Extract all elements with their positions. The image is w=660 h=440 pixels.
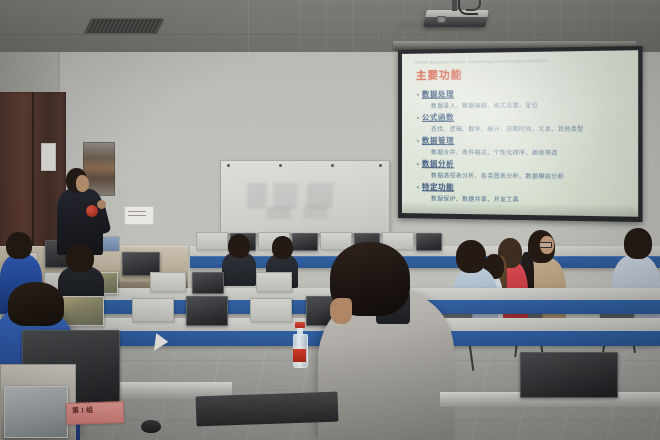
student-4-head bbox=[272, 236, 293, 259]
projector-lens-icon bbox=[437, 16, 446, 23]
whiteboard-clip-icon bbox=[379, 164, 382, 167]
eyeglasses-icon bbox=[539, 242, 552, 248]
presenter-logo-icon bbox=[86, 205, 98, 217]
bullet-dot-icon bbox=[417, 94, 419, 96]
ceiling-projector bbox=[423, 10, 489, 27]
whiteboard-clip-icon bbox=[279, 164, 282, 167]
slide-block-detail: 数据录入、数据编辑、格式设置、定位 bbox=[431, 99, 628, 109]
desk-divider bbox=[150, 272, 186, 292]
presenter-face bbox=[76, 175, 89, 192]
monitor bbox=[416, 233, 442, 251]
slide-block-detail: 数据合并、条件格式、个性化排序、高级筛选 bbox=[431, 147, 628, 157]
whiteboard-erased-marks bbox=[267, 207, 327, 219]
placard-text-line bbox=[128, 211, 146, 212]
bullet-dot-icon bbox=[417, 140, 419, 142]
bullet-dot-icon bbox=[417, 186, 419, 188]
slide-page-number: 5 bbox=[631, 209, 633, 213]
slide-block: 数据分析 数据透视表分析、各类图表分析、数据模拟分析 bbox=[415, 158, 628, 180]
slide-block-detail: 查找、逻辑、数学、统计、日期时间、文本、其他类型 bbox=[431, 123, 628, 132]
slide-block-heading: 数据管理 bbox=[422, 135, 454, 146]
projector-bracket bbox=[452, 0, 457, 11]
slide-block-head: 数据处理 bbox=[417, 87, 628, 100]
ceiling-air-vent bbox=[85, 19, 164, 33]
whiteboard-erased-marks bbox=[247, 183, 357, 209]
classroom-photo: OFFICE Application Training · Data Manag… bbox=[0, 0, 660, 440]
slide-block: 数据管理 数据合并、条件格式、个性化排序、高级筛选 bbox=[415, 135, 628, 156]
desk-divider bbox=[196, 232, 228, 250]
whiteboard-clip-icon bbox=[227, 164, 230, 167]
bottle-cap bbox=[295, 322, 305, 328]
bullet-dot-icon bbox=[417, 117, 419, 119]
slide-block-heading: 数据分析 bbox=[422, 158, 454, 169]
slide-block: 数据处理 数据录入、数据编辑、格式设置、定位 bbox=[415, 87, 628, 109]
monitor-rear bbox=[520, 352, 618, 398]
monitor bbox=[292, 233, 318, 251]
presenter-hand bbox=[97, 200, 106, 209]
computer-mouse bbox=[141, 420, 161, 433]
slide-block-heading: 数据处理 bbox=[422, 88, 454, 99]
desk-name-card-text: 第 1 组 bbox=[72, 404, 120, 416]
desk-divider bbox=[250, 298, 292, 322]
slide-block-heading: 公式函数 bbox=[422, 112, 454, 123]
slide-block-detail: 数据保护、数据共享、开发工具 bbox=[431, 193, 628, 205]
whiteboard bbox=[220, 160, 390, 234]
slide-bullet-list: 数据处理 数据录入、数据编辑、格式设置、定位 公式函数 查找、逻辑、数学、统计、… bbox=[415, 87, 628, 205]
student-2-head bbox=[66, 244, 94, 272]
slide-header-text: OFFICE Application Training · Data Manag… bbox=[415, 58, 628, 65]
desk-divider bbox=[256, 272, 292, 292]
presentation-slide: OFFICE Application Training · Data Manag… bbox=[402, 50, 638, 217]
monitor bbox=[62, 296, 104, 326]
vent-louvers bbox=[86, 20, 162, 32]
screen-surface: OFFICE Application Training · Data Manag… bbox=[402, 50, 638, 217]
whiteboard-clip-icon bbox=[331, 164, 334, 167]
slide-block: 特定功能 数据保护、数据共享、开发工具 bbox=[415, 181, 628, 204]
slide-block-head: 数据管理 bbox=[417, 135, 628, 147]
student-6-head bbox=[456, 240, 486, 273]
slide-block: 公式函数 查找、逻辑、数学、统计、日期时间、文本、其他类型 bbox=[415, 111, 628, 132]
bottle-neck bbox=[297, 327, 303, 335]
monitor bbox=[186, 296, 228, 326]
monitor bbox=[192, 272, 224, 294]
desk-divider bbox=[132, 298, 174, 322]
slide-block-head: 公式函数 bbox=[417, 111, 628, 123]
keyboard bbox=[196, 392, 339, 427]
student-10-head bbox=[228, 234, 250, 258]
student-3-head bbox=[6, 232, 32, 259]
door-notice-paper bbox=[41, 143, 56, 171]
slide-title: 主要功能 bbox=[416, 65, 628, 83]
projection-screen: OFFICE Application Training · Data Manag… bbox=[398, 46, 643, 222]
student-1-head bbox=[8, 282, 64, 326]
placard-text-line bbox=[128, 215, 146, 216]
folded-paper bbox=[154, 333, 169, 353]
slide-block-detail: 数据透视表分析、各类图表分析、数据模拟分析 bbox=[431, 170, 628, 181]
monitor-screen-front bbox=[4, 386, 68, 438]
slide-block-head: 数据分析 bbox=[417, 158, 628, 171]
slide-block-heading: 特定功能 bbox=[422, 181, 454, 192]
bullet-dot-icon bbox=[417, 163, 419, 165]
student-5-ear bbox=[330, 298, 352, 324]
ceiling-seam bbox=[248, 0, 249, 52]
bottle-label bbox=[293, 349, 306, 362]
student-9-head bbox=[624, 228, 652, 259]
ceiling-seam bbox=[0, 34, 660, 35]
